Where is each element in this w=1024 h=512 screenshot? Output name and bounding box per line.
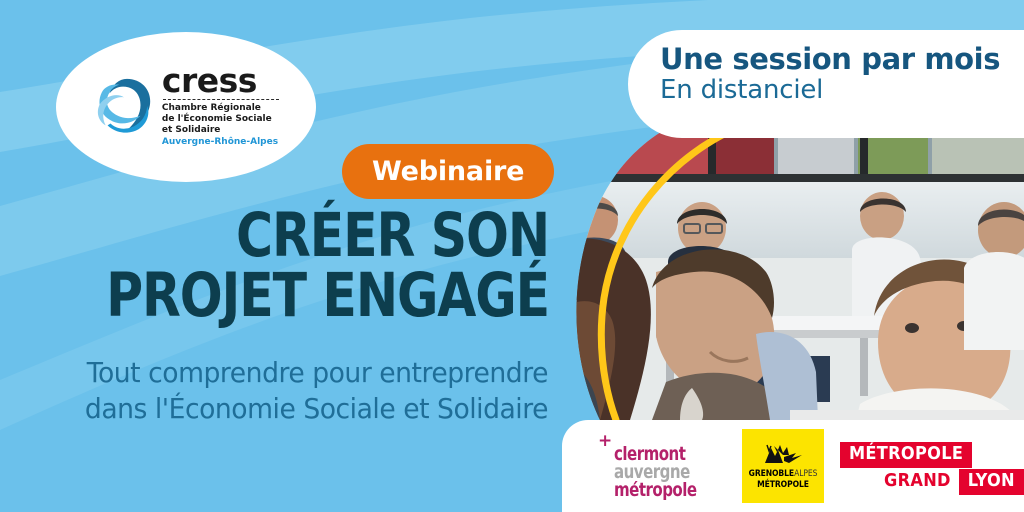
partner-logos-row: + clermont auvergne métropole GRENOBLEAL… bbox=[562, 420, 1024, 512]
page-subtitle: Tout comprendre pour entreprendre dans l… bbox=[0, 355, 562, 428]
session-frequency-label: Une session par mois bbox=[660, 44, 1024, 75]
lyon-label-grand: GRAND bbox=[884, 470, 951, 491]
cress-swirl-icon bbox=[94, 75, 156, 139]
lyon-label-lyon: LYON bbox=[968, 470, 1015, 491]
cress-subtitle-line1: Chambre Régionale bbox=[162, 103, 278, 114]
page-subtitle-line1: Tout comprendre pour entreprendre bbox=[27, 355, 548, 391]
page-title: CRÉER SON PROJET ENGAGÉ bbox=[0, 206, 562, 326]
lyon-metropole-block: MÉTROPOLE bbox=[840, 442, 972, 468]
webinaire-badge[interactable]: Webinaire bbox=[342, 144, 554, 199]
mountain-glyph-icon bbox=[762, 443, 804, 467]
metropole-grand-lyon-logo[interactable]: MÉTROPOLE GRAND LYON bbox=[838, 434, 998, 498]
plus-icon: + bbox=[598, 433, 612, 450]
lyon-lyon-block: LYON bbox=[959, 469, 1024, 495]
lyon-label-metropole: MÉTROPOLE bbox=[849, 443, 963, 464]
webinaire-badge-label: Webinaire bbox=[372, 156, 524, 187]
yellow-accent-curve bbox=[550, 118, 850, 428]
cress-region-label: Auvergne-Rhône-Alpes bbox=[162, 137, 278, 149]
cress-subtitle-line3: et Solidaire bbox=[162, 125, 278, 136]
logo-divider bbox=[163, 99, 279, 100]
page-title-line1: CRÉER SON bbox=[44, 206, 549, 266]
session-format-label: En distanciel bbox=[660, 76, 1024, 106]
cress-wordmark: cress bbox=[162, 65, 278, 96]
grenoble-label-bold: GRENOBLE bbox=[749, 469, 794, 479]
page-subtitle-line2: dans l'Économie Sociale et Solidaire bbox=[27, 391, 548, 427]
page-title-line2: PROJET ENGAGÉ bbox=[44, 266, 549, 326]
lyon-grand-block: GRAND bbox=[876, 469, 959, 495]
cress-logo[interactable]: cress Chambre Régionale de l'Économie So… bbox=[56, 32, 316, 182]
cress-subtitle-line2: de l'Économie Sociale bbox=[162, 114, 278, 125]
grenoble-label-light: ALPES bbox=[794, 469, 817, 479]
grenoble-label-line1: GRENOBLEALPES bbox=[749, 470, 818, 479]
grenoble-alpes-metropole-logo[interactable]: GRENOBLEALPES MÉTROPOLE bbox=[742, 429, 824, 503]
clermont-label-line3: métropole bbox=[614, 481, 697, 499]
grenoble-label-line2: MÉTROPOLE bbox=[757, 481, 809, 490]
clermont-auvergne-metropole-logo[interactable]: + clermont auvergne métropole bbox=[578, 429, 728, 503]
session-info-text: Une session par mois En distanciel bbox=[660, 44, 1024, 106]
webinar-banner: cress Chambre Régionale de l'Économie So… bbox=[0, 0, 1024, 512]
